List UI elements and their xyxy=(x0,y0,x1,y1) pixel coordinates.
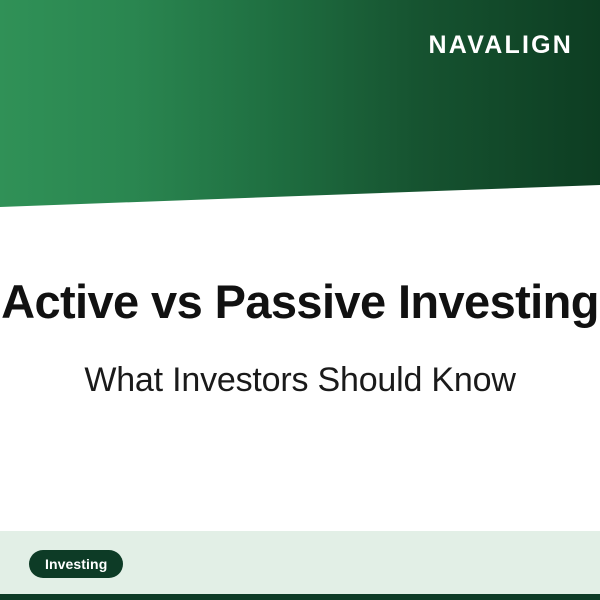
footer-bar: Investing xyxy=(0,531,600,594)
brand-logo: NAVALIGN xyxy=(429,31,573,59)
page-subtitle: What Investors Should Know xyxy=(0,360,600,400)
category-badge[interactable]: Investing xyxy=(29,550,123,578)
bottom-accent-bar xyxy=(0,594,600,600)
title-block: Active vs Passive Investing What Investo… xyxy=(0,208,600,531)
page-title: Active vs Passive Investing xyxy=(0,276,600,328)
header-banner: NAVALIGN xyxy=(0,0,600,208)
slide-canvas: NAVALIGN Active vs Passive Investing Wha… xyxy=(0,0,600,600)
